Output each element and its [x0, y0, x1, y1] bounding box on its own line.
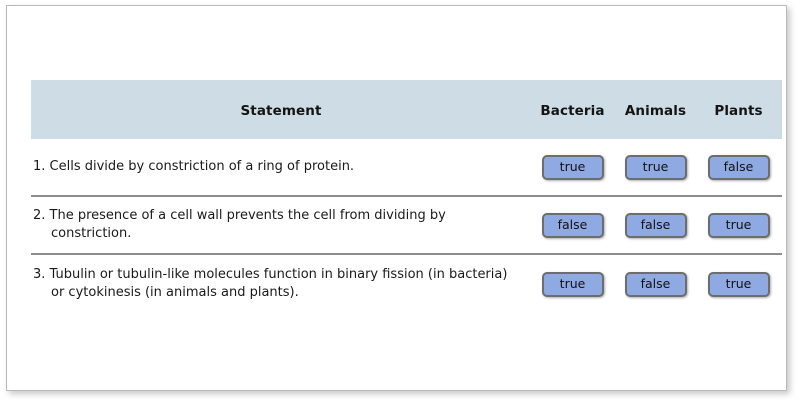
column-header-animals: Animals: [614, 100, 697, 119]
answer-button-row3-plants[interactable]: true: [708, 272, 770, 297]
answer-cell-plants: true: [697, 213, 780, 238]
column-header-plants: Plants: [697, 100, 780, 119]
answer-button-row1-animals[interactable]: true: [625, 155, 687, 180]
answer-button-row2-bacteria[interactable]: false: [542, 213, 604, 238]
answer-cell-plants: false: [697, 155, 780, 180]
column-header-statement-label: Statement: [240, 103, 321, 119]
true-false-matrix-table: Statement Bacteria Animals Plants 1. Cel…: [31, 80, 782, 313]
answer-cell-bacteria: true: [531, 272, 614, 297]
statement-text: 1. Cells divide by constriction of a rin…: [33, 158, 517, 176]
answer-cell-animals: false: [614, 272, 697, 297]
statement-text: 2. The presence of a cell wall prevents …: [33, 207, 517, 243]
answer-button-row1-plants[interactable]: false: [708, 155, 770, 180]
answer-button-row1-bacteria[interactable]: true: [542, 155, 604, 180]
answer-button-row3-bacteria[interactable]: true: [542, 272, 604, 297]
column-header-animals-label: Animals: [625, 103, 686, 119]
table-row: 1. Cells divide by constriction of a rin…: [31, 139, 782, 197]
answer-cell-animals: true: [614, 155, 697, 180]
content-panel: Statement Bacteria Animals Plants 1. Cel…: [6, 5, 787, 391]
table-row: 3. Tubulin or tubulin-like molecules fun…: [31, 255, 782, 313]
answer-cell-animals: false: [614, 213, 697, 238]
answer-cell-bacteria: true: [531, 155, 614, 180]
answer-button-row2-plants[interactable]: true: [708, 213, 770, 238]
column-header-bacteria-label: Bacteria: [540, 103, 604, 119]
column-header-plants-label: Plants: [714, 103, 762, 119]
answer-button-row2-animals[interactable]: false: [625, 213, 687, 238]
statement-cell: 3. Tubulin or tubulin-like molecules fun…: [31, 256, 531, 312]
column-header-bacteria: Bacteria: [531, 100, 614, 119]
column-header-statement: Statement: [31, 100, 531, 119]
answer-cell-bacteria: false: [531, 213, 614, 238]
statement-cell: 2. The presence of a cell wall prevents …: [31, 197, 531, 253]
statement-cell: 1. Cells divide by constriction of a rin…: [31, 148, 531, 186]
answer-cell-plants: true: [697, 272, 780, 297]
table-row: 2. The presence of a cell wall prevents …: [31, 197, 782, 255]
statement-text: 3. Tubulin or tubulin-like molecules fun…: [33, 266, 517, 302]
answer-button-row3-animals[interactable]: false: [625, 272, 687, 297]
table-header-row: Statement Bacteria Animals Plants: [31, 80, 782, 139]
